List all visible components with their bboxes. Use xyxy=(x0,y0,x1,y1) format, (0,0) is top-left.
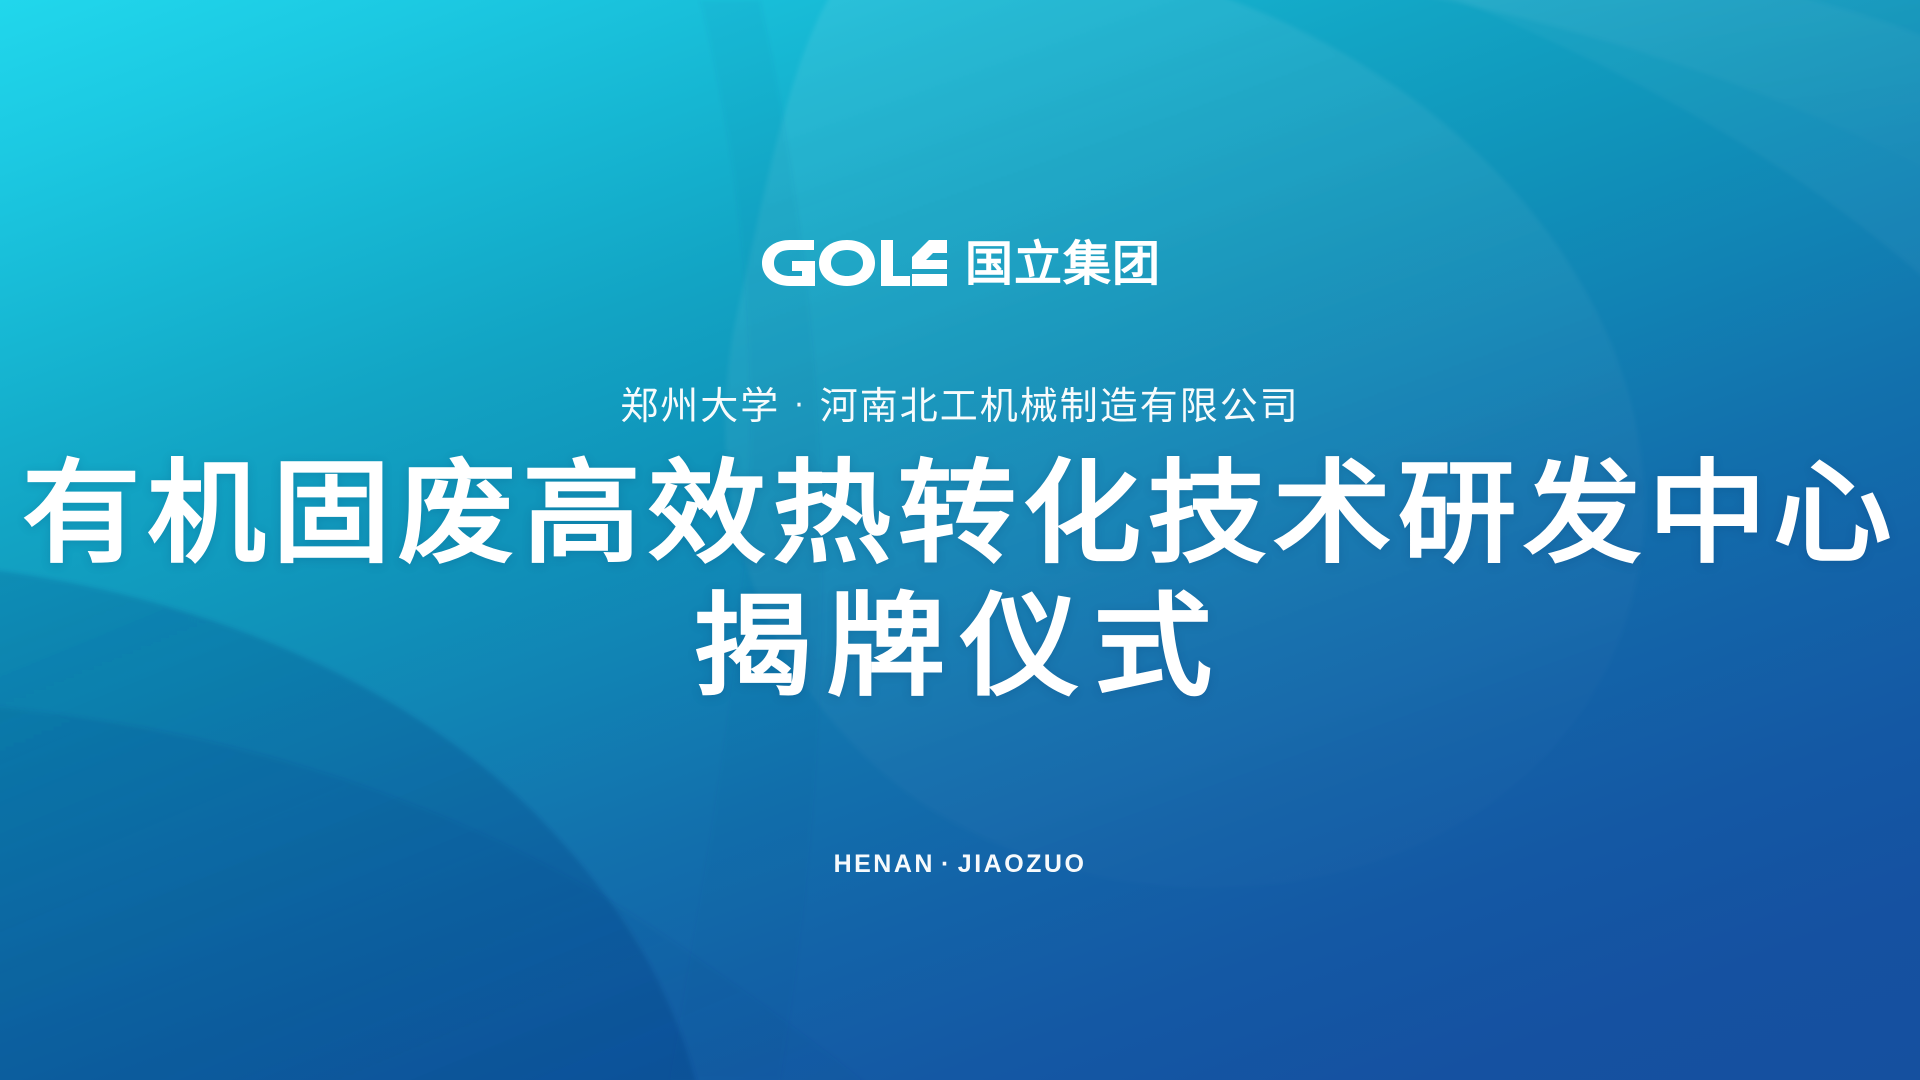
gole-wordmark-logo xyxy=(759,238,947,288)
page-title: 有机固废高效热转化技术研发中心 揭牌仪式 xyxy=(0,452,1920,713)
slide-content: 国立集团 郑州大学·河南北工机械制造有限公司 有机固废高效热转化技术研发中心 揭… xyxy=(0,0,1920,1080)
brand-logo-lockup: 国立集团 xyxy=(0,228,1920,298)
footer-city: JIAOZUO xyxy=(958,850,1087,878)
title-line-1: 有机固废高效热转化技术研发中心 xyxy=(0,452,1920,577)
title-line-2: 揭牌仪式 xyxy=(0,583,1920,713)
footer-province: HENAN xyxy=(834,850,935,878)
subtitle-separator: · xyxy=(780,388,820,423)
title-slide: 国立集团 郑州大学·河南北工机械制造有限公司 有机固废高效热转化技术研发中心 揭… xyxy=(0,0,1920,1080)
organizations-subtitle: 郑州大学·河南北工机械制造有限公司 xyxy=(0,384,1920,430)
subtitle-left: 郑州大学 xyxy=(620,384,780,428)
subtitle-right: 河南北工机械制造有限公司 xyxy=(820,384,1300,428)
brand-logo-chinese: 国立集团 xyxy=(965,240,1161,288)
location-footer: HENAN·JIAOZUO xyxy=(0,850,1920,879)
footer-separator: · xyxy=(935,850,958,878)
